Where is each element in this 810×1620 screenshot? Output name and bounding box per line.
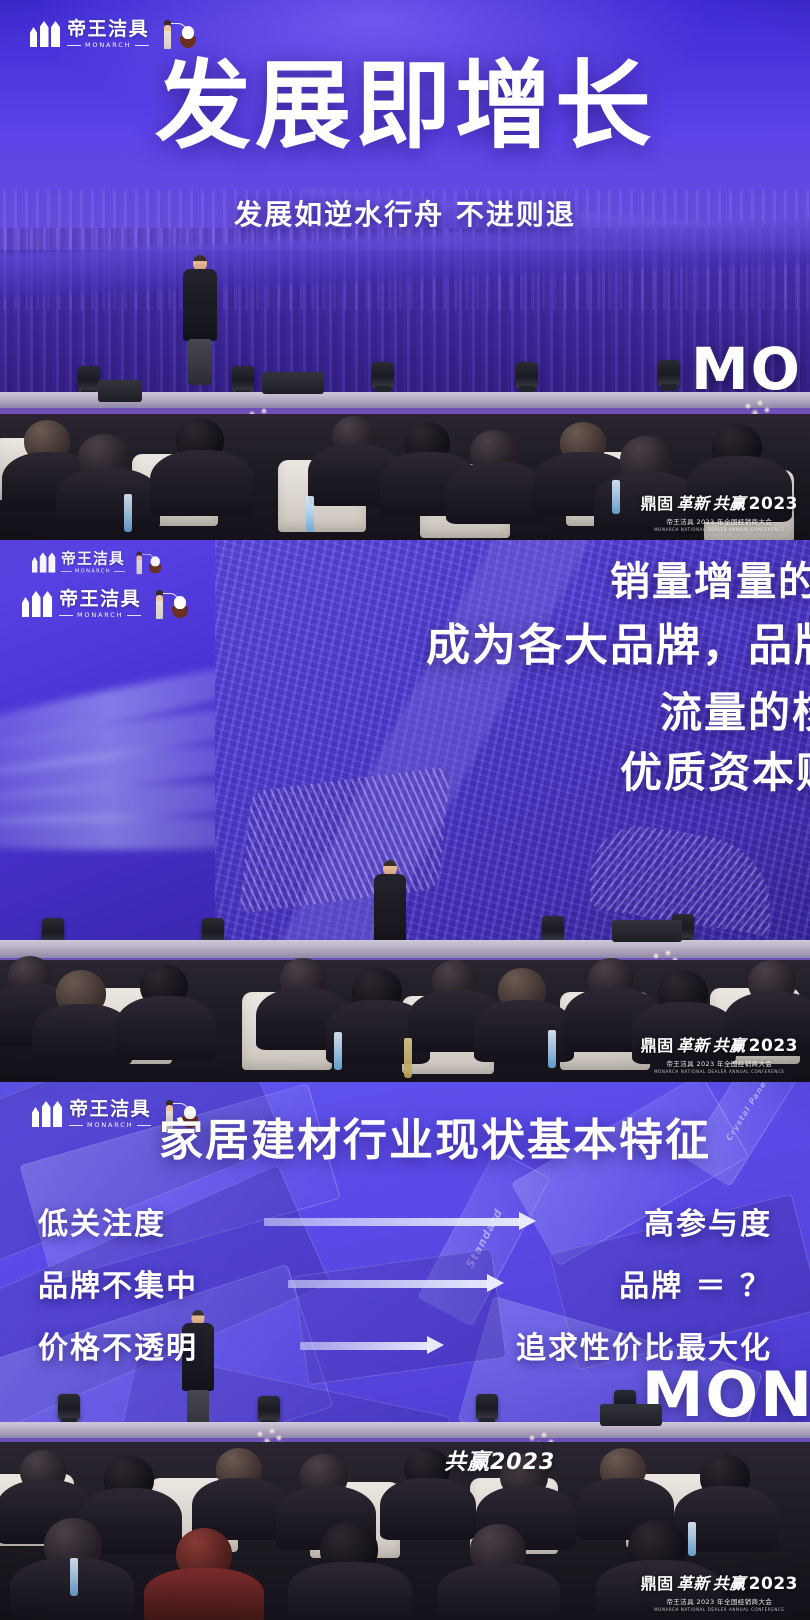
row-left-label: 品牌不集中	[38, 1261, 246, 1305]
moving-light	[258, 1396, 280, 1422]
slide-text-line-4: 优质资本贩	[620, 752, 810, 794]
watermark-part1: 鼎固	[641, 490, 674, 514]
stage-monitor-speaker	[612, 920, 682, 942]
moving-light	[516, 362, 538, 388]
brand-name-en: MONARCH	[59, 612, 141, 619]
event-watermark: 鼎固 革新 共赢 2023 帝王洁具 2023 年全国经销商大会 MONARCH…	[641, 490, 798, 532]
monarch-crown-mark-icon	[32, 552, 55, 572]
comparison-row: 价格不透明 追求性价比最大化	[0, 1314, 810, 1376]
monarch-crown-mark-icon	[30, 21, 60, 47]
watermark-subtitle: 帝王洁具 2023 年全国经销商大会	[641, 1058, 798, 1068]
moving-light	[658, 360, 680, 386]
brand-wordmark: 帝王洁具 MONARCH	[67, 20, 149, 49]
watermark-part2: 革新	[677, 1032, 710, 1056]
watermark-part3: 共赢	[713, 1032, 746, 1056]
watermark-part3: 共赢	[713, 490, 746, 514]
slide-text-line-2: 成为各大品牌，品牌	[426, 624, 810, 668]
moving-light	[372, 362, 394, 388]
moving-light	[78, 366, 100, 392]
audience-shoulders	[446, 462, 546, 524]
water-bottle	[548, 1030, 556, 1068]
watermark-year: 2023	[749, 494, 798, 514]
row-left-label: 低关注度	[38, 1199, 246, 1243]
water-bottle	[70, 1558, 78, 1596]
image-collage: 帝王洁具 MONARCH 发展即增长 发展如逆水行舟 不进则退 MO	[0, 0, 810, 1620]
water-bottle	[124, 494, 132, 532]
water-bottle	[306, 496, 314, 532]
panel-sales-volume-growth: 帝王洁具 MONARCH 帝王洁具 MONARCH 销量增量的 成为各大品牌，品…	[0, 540, 810, 1082]
person-with-washbasin-illustration-icon	[132, 550, 163, 575]
audience-shoulders	[150, 450, 254, 516]
audience-shoulders	[380, 1478, 476, 1540]
audience-shoulders	[144, 1568, 264, 1620]
comparison-row: 低关注度 高参与度	[0, 1190, 810, 1252]
watermark-part1: 鼎固	[641, 1032, 674, 1056]
monarch-crown-mark-icon	[22, 591, 52, 617]
right-arrow-icon	[264, 1216, 536, 1227]
audience-shoulders	[56, 468, 160, 530]
watermark-subtitle-en: MONARCH NATIONAL DEALER ANNUAL CONFERENC…	[641, 1607, 798, 1612]
watermark-subtitle-en: MONARCH NATIONAL DEALER ANNUAL CONFERENC…	[641, 527, 798, 532]
slide-title: 家居建材行业现状基本特征	[0, 1104, 810, 1168]
slide-text-line-1: 销量增量的	[610, 562, 810, 602]
brand-logo: 帝王洁具 MONARCH	[22, 588, 190, 620]
watermark-subtitle: 帝王洁具 2023 年全国经销商大会	[641, 1596, 798, 1606]
brand-wordmark: 帝王洁具 MONARCH	[59, 590, 141, 619]
person-with-washbasin-illustration-icon	[158, 18, 198, 50]
row-right-label: 品牌 ＝ ？	[552, 1261, 772, 1305]
brand-name-en: MONARCH	[61, 569, 125, 574]
slide-title: 发展即增长	[0, 58, 810, 156]
audience-shoulders	[288, 1562, 412, 1620]
row-left-label: 价格不透明	[38, 1323, 246, 1367]
event-watermark: 鼎固 革新 共赢 2023 帝王洁具 2023 年全国经销商大会 MONARCH…	[641, 1570, 798, 1612]
watermark-subtitle-en: MONARCH NATIONAL DEALER ANNUAL CONFERENC…	[641, 1069, 798, 1074]
right-arrow-icon	[288, 1278, 504, 1289]
slide-text-line-3: 流量的核	[660, 692, 810, 734]
stage-monitor-speaker	[98, 380, 142, 402]
row-right-label: 高参与度	[552, 1199, 772, 1243]
audience-shoulders	[474, 1000, 574, 1062]
water-bottle	[334, 1032, 342, 1070]
water-bottle	[688, 1522, 696, 1556]
watermark-part2: 革新	[677, 490, 710, 514]
comparison-rows: 低关注度 高参与度 品牌不集中 品牌 ＝ ？ 价格不透明 追求性价比最大化	[0, 1190, 810, 1376]
brand-name-cn: 帝王洁具	[67, 20, 149, 39]
right-arrow-icon	[300, 1340, 444, 1351]
brand-wordmark: 帝王洁具 MONARCH	[61, 551, 125, 573]
stage-monitor-speaker	[262, 372, 324, 394]
panel-development-is-growth: 帝王洁具 MONARCH 发展即增长 发展如逆水行舟 不进则退 MO	[0, 0, 810, 540]
moving-light	[542, 916, 564, 942]
moving-light	[232, 366, 254, 392]
stage-floor	[0, 1422, 810, 1438]
watermark-part2: 革新	[677, 1570, 710, 1594]
comparison-row: 品牌不集中 品牌 ＝ ？	[0, 1252, 810, 1314]
stage-letters-signage: MO	[691, 340, 802, 398]
slide-subtitle: 发展如逆水行舟 不进则退	[0, 193, 810, 233]
watermark-part1: 鼎固	[641, 1570, 674, 1594]
brand-name-cn: 帝王洁具	[59, 590, 141, 609]
watermark-part3: 共赢	[713, 1570, 746, 1594]
audience-shoulders	[116, 996, 216, 1060]
brand-logo-partial: 帝王洁具 MONARCH	[32, 550, 163, 575]
moving-light	[58, 1394, 80, 1420]
watermark-year: 2023	[749, 1036, 798, 1056]
stage-front-text: 共赢2023	[444, 1444, 555, 1476]
thermos-bottle	[404, 1038, 412, 1078]
water-bottle	[612, 480, 620, 514]
stage-floor	[0, 940, 810, 958]
event-watermark: 鼎固 革新 共赢 2023 帝王洁具 2023 年全国经销商大会 MONARCH…	[641, 1032, 798, 1074]
watermark-year: 2023	[749, 1574, 798, 1594]
presenter-figure	[178, 255, 222, 385]
row-right-label: 追求性价比最大化	[516, 1323, 772, 1367]
person-with-washbasin-illustration-icon	[150, 588, 190, 620]
moving-light	[476, 1394, 498, 1420]
audience-shoulders	[438, 1564, 560, 1620]
brand-name-cn: 帝王洁具	[61, 551, 125, 566]
stage-monitor-speaker	[600, 1404, 662, 1426]
brand-name-en: MONARCH	[67, 42, 149, 49]
watermark-subtitle: 帝王洁具 2023 年全国经销商大会	[641, 516, 798, 526]
panel-industry-characteristics: Standard Crystal Panel 帝王洁具 MONARCH 家居建材…	[0, 1082, 810, 1620]
brand-logo: 帝王洁具 MONARCH	[30, 18, 198, 50]
